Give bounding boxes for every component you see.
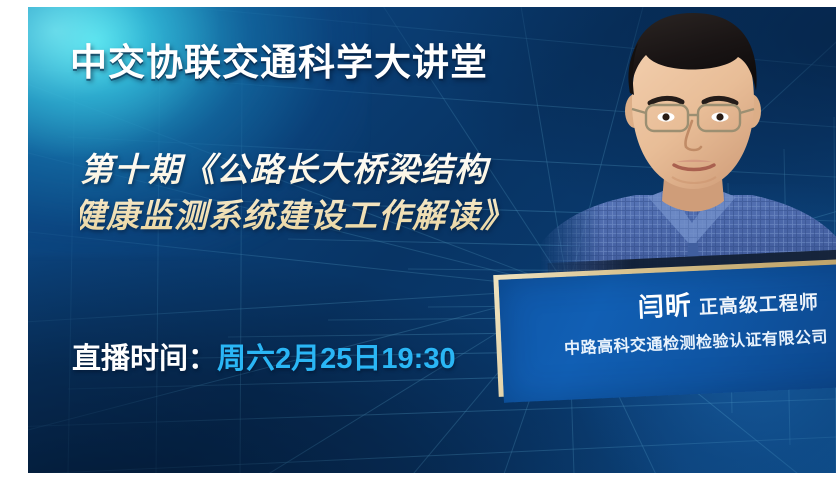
session-title: 第十期《公路长大桥梁结构 健康监测系统建设工作解读》 bbox=[80, 147, 514, 238]
frame-margin-right bbox=[836, 0, 840, 480]
live-time: 直播时间：周六2月25日19:30 bbox=[72, 335, 456, 377]
frame-margin-top bbox=[0, 0, 840, 7]
poster-canvas: 中交协联交通科学大讲堂 第十期《公路长大桥梁结构 健康监测系统建设工作解读》 直… bbox=[28, 7, 836, 473]
speaker-card: 闫昕 正高级工程师 中路高科交通检测检验认证有限公司 bbox=[493, 258, 836, 397]
speaker-organization: 中路高科交通检测检验认证有限公司 bbox=[564, 323, 829, 359]
frame-margin-left bbox=[0, 0, 28, 480]
frame-margin-bottom bbox=[0, 473, 840, 480]
speaker-role: 正高级工程师 bbox=[698, 287, 819, 319]
live-time-label: 直播时间： bbox=[72, 343, 217, 375]
session-title-line-2: 健康监测系统建设工作解读》 bbox=[72, 193, 514, 239]
page-title: 中交协联交通科学大讲堂 bbox=[70, 32, 488, 86]
speaker-name: 闫昕 bbox=[637, 285, 693, 324]
speaker-portrait-photo bbox=[540, 7, 836, 291]
speaker-card-body: 闫昕 正高级工程师 中路高科交通检测检验认证有限公司 bbox=[498, 263, 836, 403]
live-time-value: 周六2月25日19:30 bbox=[217, 343, 456, 375]
session-title-line-1: 第十期《公路长大桥梁结构 bbox=[80, 147, 514, 193]
